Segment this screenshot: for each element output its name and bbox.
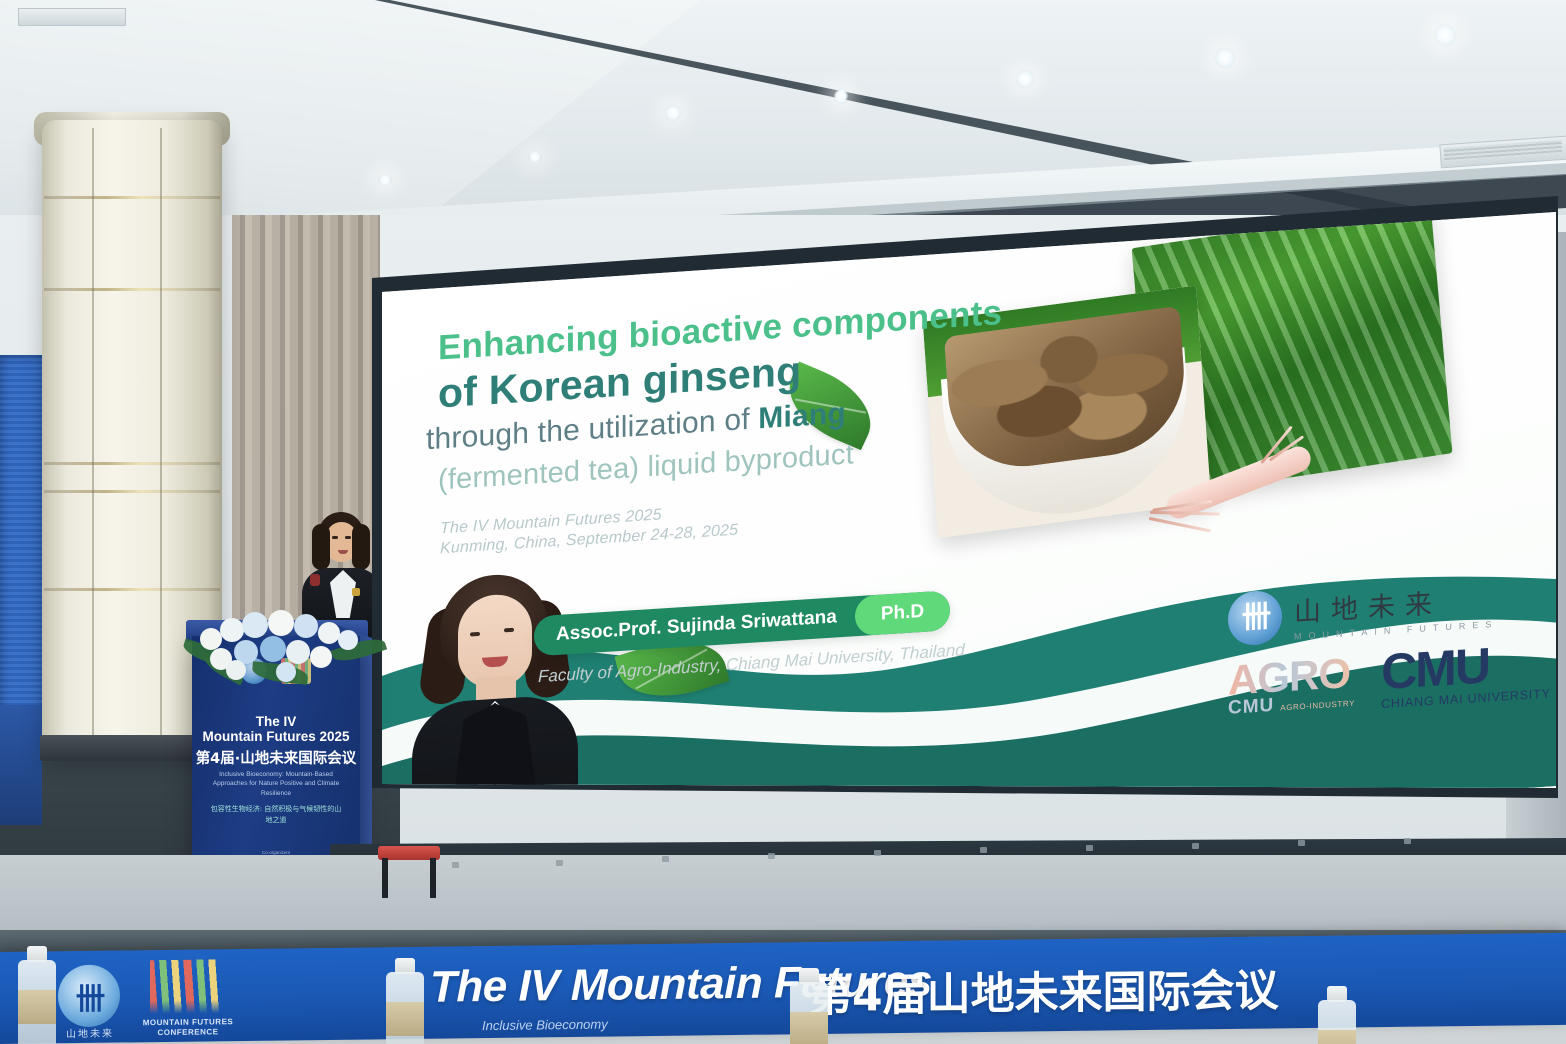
stage-fixing-icon — [874, 850, 881, 856]
red-stool — [378, 846, 440, 898]
banner-conf-line1: MOUNTAIN FUTURES — [140, 1017, 236, 1028]
speaker-degree: Ph.D — [855, 590, 950, 636]
stage-fixing-icon — [768, 853, 775, 859]
blue-wall-panel-lower — [0, 705, 42, 825]
banner-title-cn: 第4届山地未来国际会议 — [808, 954, 1279, 1024]
presentation-slide: Enhancing bioactive components of Korean… — [382, 208, 1566, 848]
stage-fixing-icon — [662, 856, 669, 862]
podium-subtitle-en: Inclusive Bioeconomy: Mountain-Based App… — [208, 770, 344, 798]
stage-fixing-icon — [452, 862, 459, 868]
column-seam — [160, 128, 162, 748]
podium-subtitle-cn: 包容性生物经济: 自然积极与气候韧性的山地之道 — [208, 804, 344, 825]
podium-title-cn: 第4届·山地未来国际会议 — [192, 747, 360, 768]
cmu-logo-word: CMU — [1381, 640, 1551, 694]
mountain-futures-emblem-icon: 卌 — [58, 965, 120, 1028]
agro-logo-cmu: CMU — [1228, 695, 1274, 720]
mountain-futures-emblem-icon: 卌 — [1228, 589, 1282, 646]
downlight-icon — [378, 175, 392, 185]
stage-fixing-icon — [556, 860, 563, 866]
column-band — [44, 196, 220, 199]
stage-fixing-icon — [1404, 838, 1411, 844]
downlight-icon — [528, 152, 542, 162]
agro-logo-word: AGRO — [1228, 654, 1355, 700]
flower-arrangement — [182, 600, 382, 686]
stage-fixing-icon — [1086, 845, 1093, 851]
column-seam — [92, 128, 94, 748]
slide-title-miang: Miang — [758, 397, 846, 436]
podium-title-line2: Mountain Futures 2025 — [192, 729, 360, 744]
stage-fixing-icon — [1192, 843, 1199, 849]
downlight-icon — [1016, 70, 1034, 88]
column-band — [44, 462, 220, 465]
conference-photo-scene: Enhancing bioactive components of Korean… — [0, 0, 1566, 1044]
water-bottle — [386, 958, 424, 1044]
downlight-icon — [1215, 48, 1235, 68]
slide-logo-group: 卌 山地未来 MOUNTAIN FUTURES AGRO CMU AGRO — [1228, 572, 1558, 721]
banner-logo-mf-caption: 山地未来 — [50, 1024, 130, 1040]
ceiling-vent — [18, 8, 126, 26]
water-bottle — [790, 968, 828, 1044]
stage-fixing-icon — [980, 847, 987, 853]
downlight-icon — [833, 88, 849, 104]
agro-cmu-logo: AGRO CMU AGRO-INDUSTRY — [1228, 654, 1355, 720]
column-band — [44, 288, 220, 291]
banner-conf-line2: CONFERENCE — [140, 1027, 236, 1038]
cmu-logo: CMU CHIANG MAI UNIVERSITY — [1381, 640, 1551, 711]
banner-subtitle: Inclusive Bioeconomy — [482, 1017, 608, 1034]
downlight-icon — [665, 105, 681, 121]
downlight-icon — [1434, 24, 1456, 46]
stage-fixing-icon — [1298, 840, 1305, 846]
mountain-futures-conference-mark-icon — [150, 959, 220, 1016]
projection-screen: Enhancing bioactive components of Korean… — [382, 208, 1566, 848]
column-band — [44, 588, 220, 591]
podium-title: The IV Mountain Futures 2025 第4届·山地未来国际会… — [192, 714, 360, 768]
water-bottle — [18, 946, 56, 1044]
water-bottle — [1318, 986, 1356, 1044]
banner-logo-conference-caption: MOUNTAIN FUTURES CONFERENCE — [140, 1017, 236, 1037]
blue-wall-panel — [0, 355, 46, 715]
podium-title-line1: The IV — [192, 714, 360, 729]
agro-logo-tagline: AGRO-INDUSTRY — [1280, 699, 1355, 713]
column-band — [44, 490, 220, 493]
